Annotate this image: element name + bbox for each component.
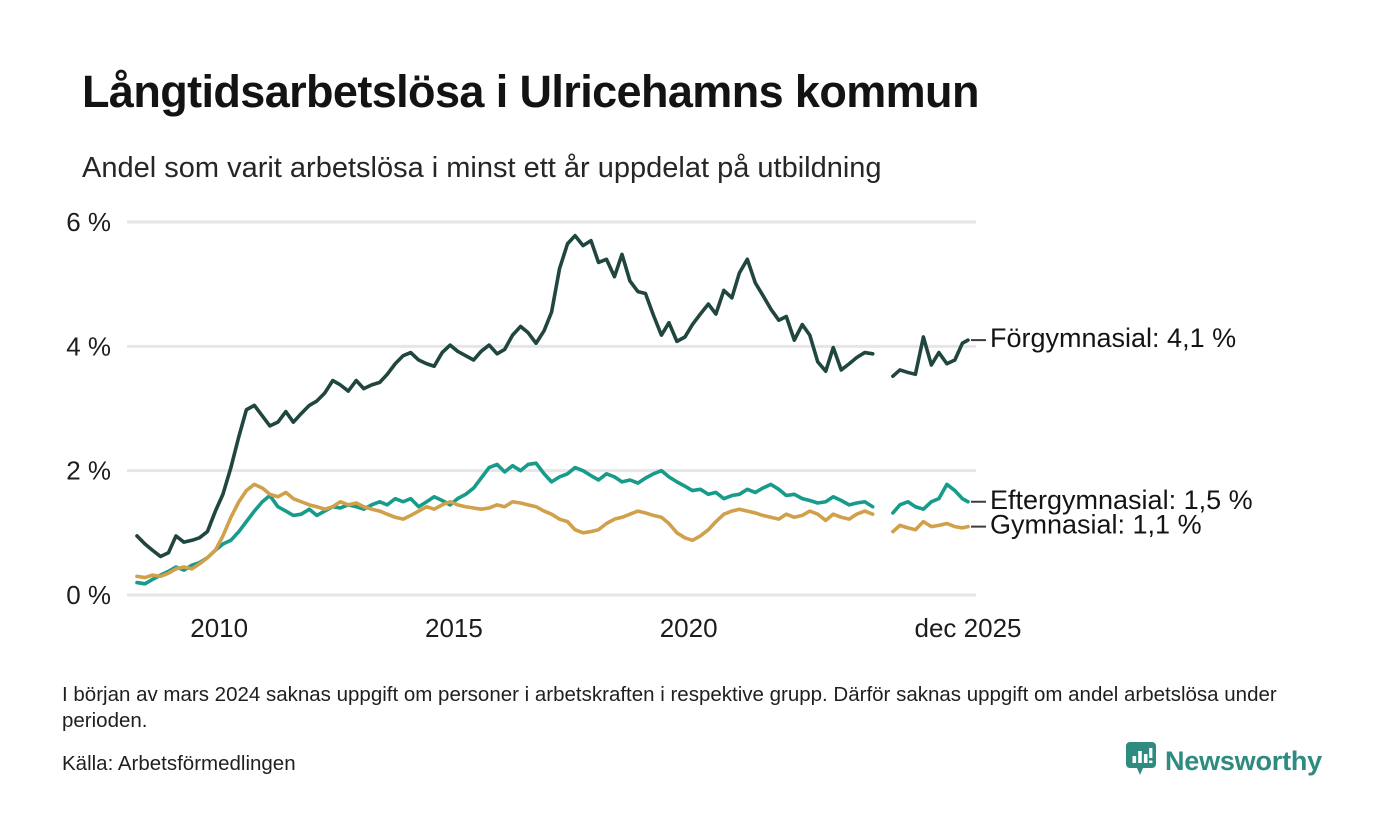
y-axis-tick-label: 2 % (66, 456, 111, 486)
newsworthy-logo[interactable]: Newsworthy (1126, 742, 1322, 781)
series-line-förgymnasial (137, 236, 968, 557)
x-axis-tick-label: dec 2025 (915, 613, 1022, 643)
x-axis-tick-label: 2010 (190, 613, 248, 643)
y-axis-tick-label: 4 % (66, 331, 111, 361)
gridlines-group (127, 222, 976, 595)
x-axis-ticks: 201020152020dec 2025 (190, 613, 1021, 643)
series-group (137, 236, 968, 584)
source-note: Källa: Arbetsförmedlingen (62, 752, 296, 776)
series-label-förgymnasial: Förgymnasial: 4,1 % (990, 323, 1236, 353)
x-axis-tick-label: 2015 (425, 613, 483, 643)
series-line-gymnasial (137, 484, 968, 577)
footnote: I början av mars 2024 saknas uppgift om … (62, 682, 1302, 734)
logo-wordmark: Newsworthy (1165, 746, 1322, 777)
series-line-eftergymnasial (137, 463, 968, 584)
y-axis-tick-label: 6 % (66, 207, 111, 237)
series-annotations: Förgymnasial: 4,1 %Eftergymnasial: 1,5 %… (971, 323, 1253, 539)
bar-chart-speech-bubble-icon (1126, 742, 1156, 781)
y-axis-ticks: 0 %2 %4 %6 % (66, 207, 111, 610)
y-axis-tick-label: 0 % (66, 580, 111, 610)
x-axis-tick-label: 2020 (660, 613, 718, 643)
series-label-gymnasial: Gymnasial: 1,1 % (990, 510, 1202, 540)
chart-page: Långtidsarbetslösa i Ulricehamns kommun … (0, 0, 1400, 840)
